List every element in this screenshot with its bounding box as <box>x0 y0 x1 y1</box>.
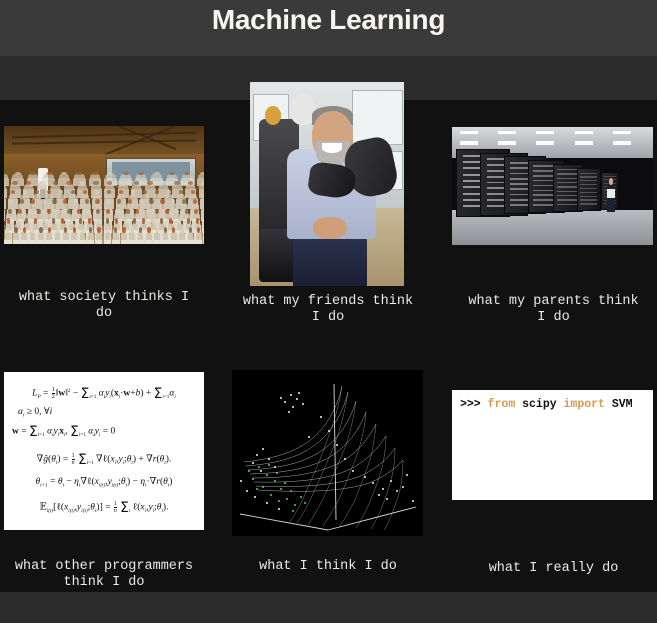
seated-person-head <box>8 209 12 214</box>
ceiling-light <box>460 141 478 145</box>
data-point-white <box>396 490 398 492</box>
seated-person-head <box>147 227 150 233</box>
seat-back <box>159 203 166 209</box>
footer-background-band <box>0 592 657 623</box>
ceiling-light <box>498 131 516 135</box>
seat <box>29 239 36 244</box>
data-point-white <box>252 462 254 464</box>
equation-gradient: ∇ĝ(θt) = 1n Σi=1 ∇ℓ(xi,yi;θt) + ∇r(θt). <box>4 452 204 468</box>
seat-back <box>167 174 178 178</box>
ceiling-light <box>536 131 554 135</box>
equation-alpha-constraint: αi ≥ 0, ∀i <box>4 406 52 418</box>
seated-person-head <box>48 227 51 233</box>
caption-i-think: what I think I do <box>224 559 432 575</box>
seat-back <box>88 232 94 240</box>
seat-back <box>137 203 144 209</box>
data-point-white <box>278 508 280 510</box>
caption-other-programmers: what other programmers think I do <box>0 559 208 591</box>
equation-lagrangian: LP = 12‖w‖2 − Σi=1 αiyi(xi·w+b) + Σi=1αi <box>4 386 204 402</box>
equation-expectation: 𝔼i(t)[ℓ(xi(t),yi(t);θt)] = 1n Σi ℓ(xi,yi… <box>4 500 204 516</box>
ceiling-light <box>460 131 478 135</box>
rack-panel <box>580 176 597 177</box>
seat-back <box>153 194 161 199</box>
seat-back <box>13 232 19 240</box>
seat <box>46 239 53 244</box>
data-point-white <box>406 474 408 476</box>
rack-panel <box>557 195 578 196</box>
seated-person-head <box>203 199 204 204</box>
seat-back <box>186 184 195 188</box>
data-point-white <box>254 496 256 498</box>
seat-back <box>38 232 44 240</box>
seat-back <box>12 174 23 178</box>
seat-back <box>30 232 36 240</box>
lecture-hall-photo <box>4 126 204 244</box>
equation-sgd-update: θt+1 = θt − ηt∇ℓ(xi(t),yi(t);θt) − ηt·∇r… <box>4 476 204 488</box>
seated-person-head <box>53 181 58 185</box>
seat-back <box>55 232 61 240</box>
caption-parents: what my parents think I do <box>450 294 657 326</box>
seat <box>21 239 28 244</box>
seat <box>38 239 45 244</box>
data-point-white <box>352 470 354 472</box>
caption-friends: what my friends think I do <box>224 294 432 326</box>
rack-panel <box>557 204 578 205</box>
seated-person-head <box>154 172 160 175</box>
seat-back <box>96 232 102 240</box>
seated-person-head <box>96 209 100 214</box>
seat <box>104 239 111 244</box>
seated-person-head <box>149 199 153 204</box>
data-point-white <box>274 466 276 468</box>
seat-back <box>172 184 181 188</box>
seated-person-head <box>169 172 175 175</box>
data-point-white <box>336 444 338 446</box>
rack-panel <box>604 176 616 177</box>
seat-back <box>78 184 87 188</box>
data-point-white <box>262 448 264 450</box>
seat-back <box>189 194 197 199</box>
seated-person-head <box>67 209 71 214</box>
seat-back <box>80 232 86 240</box>
seat-back <box>121 232 127 240</box>
seat <box>195 239 202 244</box>
seat-back <box>46 232 52 240</box>
python-console-panel[interactable]: >>> from scipy import SVM <box>452 390 653 500</box>
seated-person-head <box>193 199 197 204</box>
seat-back <box>129 194 137 199</box>
seat <box>79 239 86 244</box>
seat-back <box>188 232 194 240</box>
data-point-white <box>284 401 286 403</box>
seated-person-head <box>131 227 134 233</box>
seat <box>4 239 11 244</box>
seat-back <box>33 194 41 199</box>
seated-person-head <box>200 172 204 175</box>
seat <box>13 239 20 244</box>
data-point-white <box>290 394 292 396</box>
code-module-name: scipy <box>515 398 563 411</box>
header-bar: Machine Learning <box>0 0 657 56</box>
seated-person-head <box>14 227 17 233</box>
seat-back <box>165 194 173 199</box>
seated-person-head <box>126 209 130 214</box>
seated-person-head <box>46 172 52 175</box>
seat <box>121 239 128 244</box>
data-point-white <box>292 406 294 408</box>
man-trousers <box>293 233 367 286</box>
code-symbol-name: SVM <box>605 398 633 411</box>
data-point-white <box>386 498 388 500</box>
seat-back <box>148 203 155 209</box>
seat-back <box>138 232 144 240</box>
seat <box>112 239 119 244</box>
data-point-white <box>412 500 414 502</box>
seat-back <box>4 174 8 178</box>
page-title: Machine Learning <box>0 4 657 36</box>
seat-back <box>118 184 127 188</box>
seat-back <box>51 203 58 209</box>
rack-panel <box>580 188 597 189</box>
seated-person-head <box>18 209 22 214</box>
seat-back <box>105 184 114 188</box>
data-point-white <box>246 490 248 492</box>
seat <box>187 239 194 244</box>
surface-wireframe <box>232 370 423 536</box>
seat-back <box>9 194 17 199</box>
code-keyword-import: import <box>564 398 605 411</box>
seated-person-head <box>30 172 36 175</box>
seat-back <box>37 184 46 188</box>
data-point-white <box>402 486 404 488</box>
seated-person-head <box>139 199 143 204</box>
seat-back <box>59 174 70 178</box>
seated-person-head <box>156 227 159 233</box>
seat-back <box>163 232 169 240</box>
data-point-white <box>390 480 392 482</box>
seat-back <box>117 194 125 199</box>
seat-back <box>51 184 60 188</box>
seat-back <box>74 174 85 178</box>
equation-w-and-sum: w = Σi=1 αiyixi, Σi=1 αiyi = 0 <box>4 424 115 440</box>
seat-back <box>91 184 100 188</box>
seated-person-head <box>57 209 61 214</box>
man-hands <box>313 217 347 239</box>
seated-person-head <box>165 209 169 214</box>
seated-person-head <box>106 199 110 204</box>
seated-person-head <box>138 172 144 175</box>
seated-person-head <box>39 181 44 185</box>
seated-person-head <box>47 209 51 214</box>
rack-panel <box>580 196 597 197</box>
seated-person-head <box>12 181 17 185</box>
seat <box>62 239 69 244</box>
seat-back <box>199 184 204 188</box>
seat-back <box>69 194 77 199</box>
robot-joint <box>265 106 280 124</box>
seat-back <box>202 203 204 209</box>
data-point-white <box>308 436 310 438</box>
seated-person-head <box>147 181 152 185</box>
seated-person-head <box>161 181 166 185</box>
seat <box>87 239 94 244</box>
seat-back <box>201 194 204 199</box>
seat-back <box>63 232 69 240</box>
seat-back <box>120 174 131 178</box>
seated-person-head <box>95 199 99 204</box>
seat-back <box>90 174 101 178</box>
data-point-white <box>266 502 268 504</box>
seat-back <box>203 213 204 219</box>
seat-back <box>28 174 39 178</box>
seat-back <box>21 232 27 240</box>
seated-person-head <box>23 227 26 233</box>
ceiling-light <box>613 131 631 135</box>
seated-person-head <box>93 181 98 185</box>
seat-back <box>179 232 185 240</box>
seat-back <box>57 194 65 199</box>
seat-back <box>129 232 135 240</box>
caption-really-do: what I really do <box>450 561 657 577</box>
seat-back <box>36 213 43 219</box>
rack-panel <box>580 192 597 193</box>
rack-panel <box>580 184 597 185</box>
seat-back <box>40 203 47 209</box>
svm-3d-surface-plot <box>232 370 423 536</box>
seated-person-head <box>107 181 112 185</box>
seat-back <box>29 203 36 209</box>
code-import-statement: >>> from scipy import SVM <box>460 398 633 411</box>
seat-back <box>136 174 147 178</box>
data-point-white <box>280 397 282 399</box>
seat <box>146 239 153 244</box>
seat-back <box>154 232 160 240</box>
data-point-white <box>320 416 322 418</box>
seat-back <box>145 184 154 188</box>
seat-back <box>144 213 151 219</box>
code-prompt: >>> <box>460 398 488 411</box>
seated-person-head <box>39 227 42 233</box>
seated-person-head <box>97 227 100 233</box>
rack-panel <box>557 191 578 192</box>
seat-back <box>24 184 33 188</box>
seated-person-head <box>41 199 45 204</box>
seat-back <box>5 232 11 240</box>
seated-person-head <box>122 227 125 233</box>
seat <box>162 239 169 244</box>
seated-person-head <box>85 199 89 204</box>
seat-back <box>151 174 162 178</box>
seat-back <box>196 232 202 240</box>
seated-person-head <box>15 172 21 175</box>
math-equations-panel: LP = 12‖w‖2 − Σi=1 αiyi(xi·w+b) + Σi=1αi… <box>4 372 204 530</box>
ceiling-light <box>575 131 593 135</box>
server-room-photo <box>452 127 653 245</box>
seat <box>179 239 186 244</box>
seated-person-head <box>160 199 164 204</box>
seat-back <box>132 184 141 188</box>
seat-row <box>4 239 204 244</box>
data-point-white <box>364 476 366 478</box>
data-point-white <box>372 482 374 484</box>
server-rack <box>577 168 601 211</box>
seat-back <box>64 184 73 188</box>
rack-panel <box>557 186 578 187</box>
data-point-white <box>288 411 290 413</box>
data-point-white <box>260 470 262 472</box>
seat-back <box>105 194 113 199</box>
seat-back <box>159 184 168 188</box>
seat <box>71 239 78 244</box>
seated-person-head <box>92 172 98 175</box>
rack-panel <box>557 178 578 179</box>
seat-back <box>43 174 54 178</box>
man-with-robot-photo <box>250 82 404 286</box>
seat-back <box>81 194 89 199</box>
seat-back <box>93 194 101 199</box>
ceiling-light <box>575 141 593 145</box>
data-point-white <box>382 488 384 490</box>
seated-person-head <box>134 181 139 185</box>
seat <box>54 239 61 244</box>
seated-person-head <box>66 181 71 185</box>
seated-person-head <box>188 181 193 185</box>
seat <box>129 239 136 244</box>
seated-person-head <box>175 209 179 214</box>
seat-back <box>198 174 204 178</box>
seated-person-head <box>52 199 56 204</box>
code-keyword-from: from <box>488 398 516 411</box>
seated-person-head <box>26 181 31 185</box>
ceiling-light <box>498 141 516 145</box>
rack-panel <box>557 199 578 200</box>
seated-person-head <box>61 172 67 175</box>
data-point-white <box>256 454 258 456</box>
seat-back <box>21 194 29 199</box>
seat-back <box>10 184 19 188</box>
seat <box>96 239 103 244</box>
seat <box>137 239 144 244</box>
seated-person-head <box>123 172 129 175</box>
seated-person-head <box>181 227 184 233</box>
rack-panel <box>557 169 578 170</box>
data-point-white <box>296 398 298 400</box>
seated-person-head <box>120 181 125 185</box>
seat-back <box>45 194 53 199</box>
seat <box>154 239 161 244</box>
seat-back <box>71 232 77 240</box>
seat-back <box>177 194 185 199</box>
rack-panel <box>557 173 578 174</box>
ceiling-light <box>536 141 554 145</box>
seated-person-head <box>174 181 179 185</box>
ceiling-light <box>613 141 631 145</box>
seat-back <box>171 232 177 240</box>
seated-person-head <box>31 199 35 204</box>
rack-panel <box>580 180 597 181</box>
seated-person-head <box>155 209 159 214</box>
data-point-white <box>378 494 380 496</box>
rack-panel <box>580 203 597 204</box>
seated-person-head <box>106 209 110 214</box>
seated-person-head <box>116 209 120 214</box>
data-point-white <box>298 392 300 394</box>
seated-person-head <box>80 181 85 185</box>
rack-panel <box>557 182 578 183</box>
seat-back <box>105 232 111 240</box>
seat-back <box>141 194 149 199</box>
data-point-white <box>302 403 304 405</box>
seat <box>170 239 177 244</box>
rack-panel <box>580 199 597 200</box>
data-point-white <box>268 458 270 460</box>
technician-figure <box>607 185 615 212</box>
seat-back <box>146 232 152 240</box>
rack-panel <box>580 173 597 174</box>
seat-back <box>105 174 116 178</box>
data-point-white <box>328 430 330 432</box>
meme-image: Machine Learning what society thinks I d… <box>0 0 657 623</box>
seat-back <box>182 174 193 178</box>
seated-person-head <box>73 227 76 233</box>
data-point-white <box>240 480 242 482</box>
seat-back <box>113 232 119 240</box>
caption-society: what society thinks I do <box>0 290 208 322</box>
seated-person-head <box>201 181 204 185</box>
data-point-white <box>344 458 346 460</box>
